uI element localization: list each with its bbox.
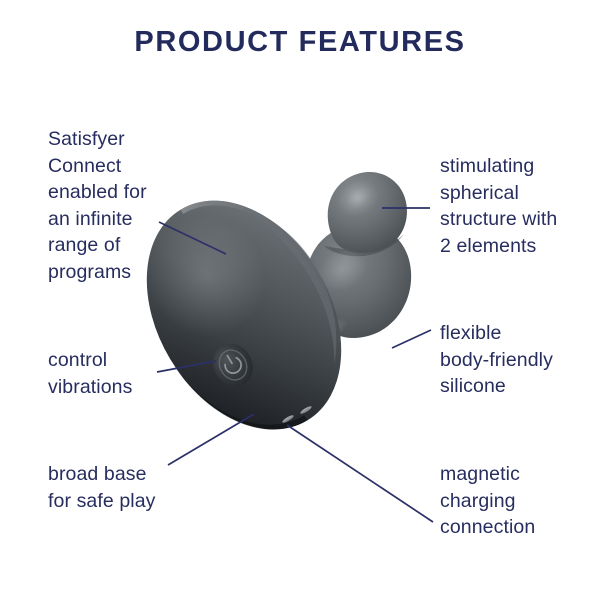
callout-control-line-2: vibrations: [48, 374, 132, 401]
callout-control: control vibrations: [48, 347, 132, 400]
callout-connect: Satisfyer Connect enabled for an infinit…: [48, 126, 147, 285]
callout-connect-line-4: an infinite: [48, 206, 147, 233]
callout-base-line-2: for safe play: [48, 488, 156, 515]
callout-connect-line-3: enabled for: [48, 179, 147, 206]
callout-spherical-line-3: structure with: [440, 206, 557, 233]
callout-silicone-line-3: silicone: [440, 373, 553, 400]
callout-connect-line-1: Satisfyer: [48, 126, 147, 153]
callout-connect-line-2: Connect: [48, 153, 147, 180]
callout-spherical-line-2: spherical: [440, 180, 557, 207]
callout-connect-line-5: range of: [48, 232, 147, 259]
callout-magnetic-line-2: charging: [440, 488, 535, 515]
callout-magnetic-line-1: magnetic: [440, 461, 535, 488]
callout-magnetic: magnetic charging connection: [440, 461, 535, 541]
callout-spherical-line-4: 2 elements: [440, 233, 557, 260]
callout-base: broad base for safe play: [48, 461, 156, 514]
callout-base-line-1: broad base: [48, 461, 156, 488]
product-features-diagram: PRODUCT FEATURES: [0, 0, 600, 600]
callout-silicone-line-1: flexible: [440, 320, 553, 347]
callout-magnetic-line-3: connection: [440, 514, 535, 541]
callout-connect-line-6: programs: [48, 259, 147, 286]
callout-silicone-line-2: body-friendly: [440, 347, 553, 374]
callout-spherical-line-1: stimulating: [440, 153, 557, 180]
callout-control-line-1: control: [48, 347, 132, 374]
callout-silicone: flexible body-friendly silicone: [440, 320, 553, 400]
callout-spherical: stimulating spherical structure with 2 e…: [440, 153, 557, 259]
